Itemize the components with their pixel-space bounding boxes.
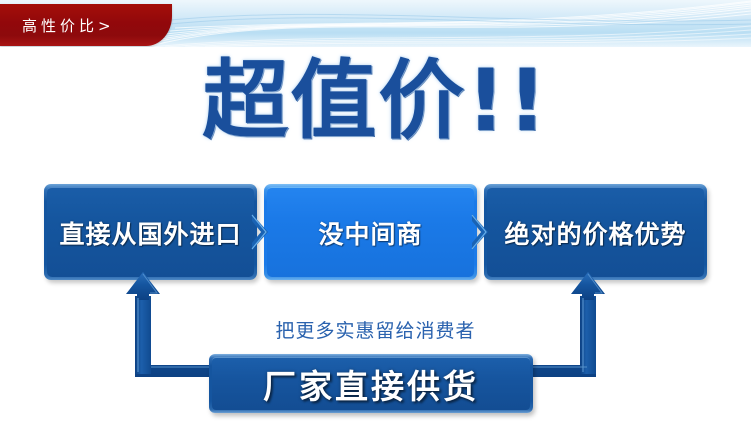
flow-box-1-inner: 直接从国外进口 bbox=[47, 187, 254, 277]
footer-subtitle: 把更多实惠留给消费者 bbox=[0, 316, 751, 343]
header-tab-label: 高性价比> bbox=[22, 15, 115, 36]
flow-box-3-label: 绝对的价格优势 bbox=[504, 215, 686, 251]
footer-box-inner: 厂家直接供货 bbox=[212, 357, 530, 410]
page-title: 超值价!! bbox=[0, 50, 751, 152]
flow-box-3[interactable]: 绝对的价格优势 bbox=[484, 184, 707, 280]
chevron-right-icon bbox=[250, 212, 270, 252]
header-band: 高性价比> bbox=[0, 0, 751, 47]
flow-box-1-label: 直接从国外进口 bbox=[59, 215, 241, 251]
flow-box-2-label: 没中间商 bbox=[318, 215, 422, 251]
flow-box-3-inner: 绝对的价格优势 bbox=[487, 187, 704, 277]
chevron-right-icon bbox=[470, 212, 490, 252]
promo-banner: 高性价比> 超值价!! 直接从国外进口 没中间商 绝对的价格优势 bbox=[0, 0, 751, 427]
flow-box-2-inner: 没中间商 bbox=[267, 187, 474, 277]
footer-box[interactable]: 厂家直接供货 bbox=[209, 354, 533, 413]
flow-box-2[interactable]: 没中间商 bbox=[264, 184, 477, 280]
footer-box-label: 厂家直接供货 bbox=[263, 360, 479, 408]
header-tab[interactable]: 高性价比> bbox=[0, 4, 172, 46]
flow-box-1[interactable]: 直接从国外进口 bbox=[44, 184, 257, 280]
